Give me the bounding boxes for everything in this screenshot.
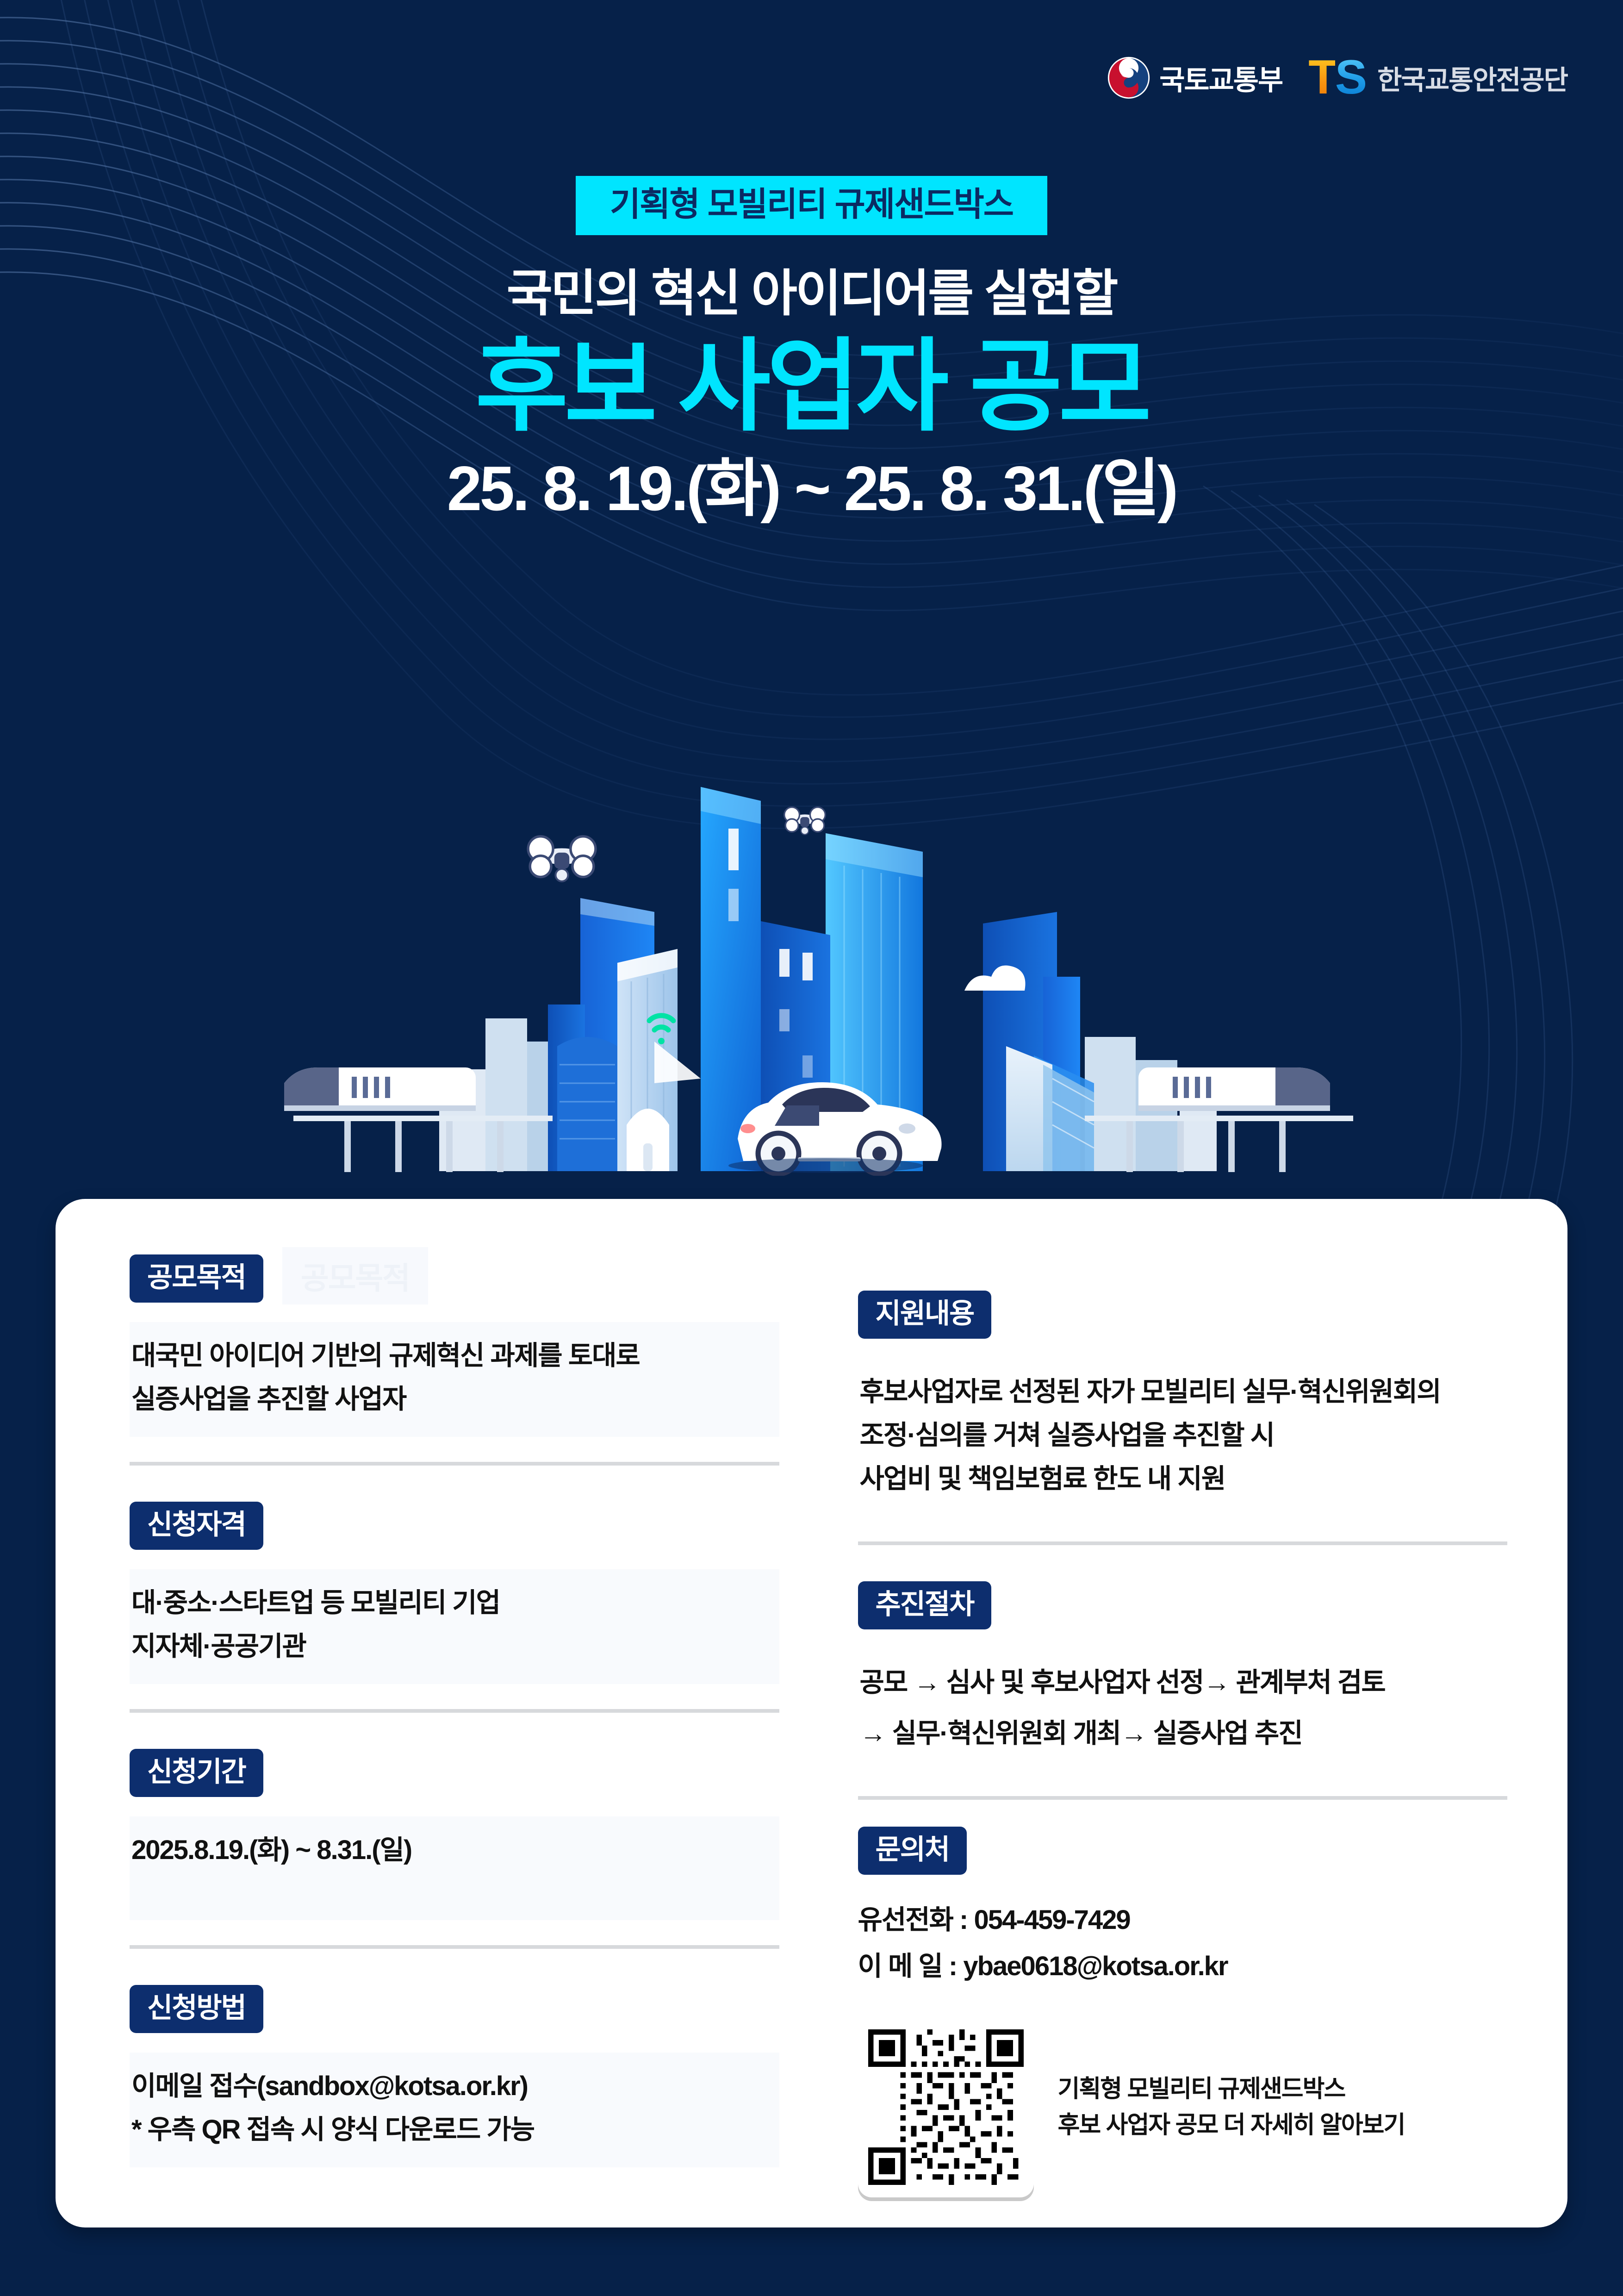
contact-phone-row: 유선전화 : 054-459-7429: [858, 1897, 1508, 1943]
agency-logo-label: 한국교통안전공단: [1377, 58, 1567, 97]
qr-caption-line: 기획형 모빌리티 규제샌드박스: [1058, 2071, 1405, 2107]
hero-subtitle: 국민의 혁신 아이디어를 실현할: [0, 265, 1623, 322]
train-icon-left: [284, 1067, 476, 1111]
ghost-watermark-purpose: 공모목적: [282, 1247, 428, 1304]
rounded-tower: [557, 1037, 617, 1171]
smart-city-illustration: [0, 759, 1623, 1176]
left-column: 공모목적 공모목적 대국민 아이디어 기반의 규제혁신 과제를 토대로 실증사업…: [130, 1254, 779, 2227]
program-badge: 기획형 모빌리티 규제샌드박스: [576, 176, 1047, 235]
section-divider: [858, 1796, 1508, 1800]
body-line: 공모 → 심사 및 후보사업자 선정→ 관계부처 검토: [860, 1661, 1494, 1704]
section-body-purpose: 대국민 아이디어 기반의 규제혁신 과제를 토대로 실증사업을 추진할 사업자: [130, 1322, 779, 1437]
body-line: 후보사업자로 선정된 자가 모빌리티 실무·혁신위원회의: [860, 1370, 1494, 1414]
section-label-eligibility: 신청자격: [130, 1502, 263, 1550]
qr-caption-line: 후보 사업자 공모 더 자세히 알아보기: [1058, 2107, 1405, 2143]
section-divider: [130, 1462, 779, 1466]
contact-phone-label: 유선전화 :: [858, 1905, 974, 1935]
contact-email-value[interactable]: ybae0618@kotsa.or.kr: [963, 1951, 1227, 1981]
section-support: 지원내용 후보사업자로 선정된 자가 모빌리티 실무·혁신위원회의 조정·심의를…: [858, 1291, 1508, 1545]
section-body-period: 2025.8.19.(화) ~ 8.31.(일): [130, 1816, 779, 1920]
section-eligibility: 신청자격 대·중소·스타트업 등 모빌리티 기업 지자체·공공기관: [130, 1502, 779, 1713]
section-body-apply-method: 이메일 접수(sandbox@kotsa.or.kr) * 우측 QR 접속 시…: [130, 2053, 779, 2167]
section-label-contact: 문의처: [858, 1827, 967, 1875]
ts-letter-s: S: [1335, 58, 1365, 97]
qr-row: 기획형 모빌리티 규제샌드박스 후보 사업자 공모 더 자세히 알아보기: [858, 2017, 1508, 2197]
ministry-logo: 국토교통부: [1107, 56, 1282, 100]
info-card: 공모목적 공모목적 대국민 아이디어 기반의 규제혁신 과제를 토대로 실증사업…: [56, 1199, 1567, 2227]
section-contact: 문의처 유선전화 : 054-459-7429 이 메 일 : ybae0618…: [858, 1827, 1508, 2198]
train-icon-right: [1138, 1067, 1330, 1111]
taegeuk-swirl-icon: [1107, 56, 1151, 100]
body-line: 이메일 접수(sandbox@kotsa.or.kr): [131, 2065, 765, 2108]
body-line: * 우측 QR 접속 시 양식 다운로드 가능: [131, 2108, 765, 2152]
section-label-purpose: 공모목적: [130, 1254, 263, 1303]
section-period: 신청기간 2025.8.19.(화) ~ 8.31.(일): [130, 1749, 779, 1949]
body-line: 사업비 및 책임보험료 한도 내 지원: [860, 1457, 1494, 1501]
dome-building: [627, 1109, 669, 1171]
section-label-support: 지원내용: [858, 1291, 992, 1339]
section-body-eligibility: 대·중소·스타트업 등 모빌리티 기업 지자체·공공기관: [130, 1569, 779, 1684]
section-label-process: 추진절차: [858, 1581, 992, 1629]
qr-caption: 기획형 모빌리티 규제샌드박스 후보 사업자 공모 더 자세히 알아보기: [1058, 2071, 1405, 2143]
body-line: 조정·심의를 거쳐 실증사업을 추진할 시: [860, 1414, 1494, 1457]
right-light-tower: [1006, 1046, 1094, 1171]
section-label-apply-method: 신청방법: [130, 1985, 263, 2033]
section-process: 추진절차 공모 → 심사 및 후보사업자 선정→ 관계부처 검토 → 실무·혁신…: [858, 1581, 1508, 1800]
section-divider: [858, 1541, 1508, 1545]
section-label-period: 신청기간: [130, 1749, 263, 1797]
body-line: → 실무·혁신위원회 개최→ 실증사업 추진: [860, 1712, 1494, 1755]
contact-details: 유선전화 : 054-459-7429 이 메 일 : ybae0618@kot…: [858, 1897, 1508, 1990]
contact-phone-value[interactable]: 054-459-7429: [974, 1905, 1130, 1935]
car-shadow: [728, 1158, 923, 1173]
section-divider: [130, 1709, 779, 1713]
drone-icon-left: [528, 836, 596, 881]
contact-email-row: 이 메 일 : ybae0618@kotsa.or.kr: [858, 1943, 1508, 1990]
page-title: 후보 사업자 공모: [0, 334, 1623, 440]
ts-mark-icon: T S: [1308, 58, 1365, 97]
section-body-support: 후보사업자로 선정된 자가 모빌리티 실무·혁신위원회의 조정·심의를 거쳐 실…: [858, 1358, 1508, 1516]
section-body-process: 공모 → 심사 및 후보사업자 선정→ 관계부처 검토 → 실무·혁신위원회 개…: [858, 1649, 1508, 1771]
contact-email-label: 이 메 일 :: [858, 1951, 964, 1981]
ts-letter-t: T: [1308, 58, 1335, 97]
hero-section: 기획형 모빌리티 규제샌드박스 국민의 혁신 아이디어를 실현할 후보 사업자 …: [0, 176, 1623, 524]
drone-icon-right: [784, 807, 825, 835]
section-divider: [130, 1945, 779, 1949]
body-line: 2025.8.19.(화) ~ 8.31.(일): [131, 1828, 765, 1872]
section-apply-method: 신청방법 이메일 접수(sandbox@kotsa.or.kr) * 우측 QR…: [130, 1985, 779, 2167]
section-purpose: 공모목적 공모목적 대국민 아이디어 기반의 규제혁신 과제를 토대로 실증사업…: [130, 1254, 779, 1466]
body-line: 대·중소·스타트업 등 모빌리티 기업: [131, 1581, 765, 1625]
body-line: 대국민 아이디어 기반의 규제혁신 과제를 토대로: [131, 1334, 765, 1378]
ministry-logo-label: 국토교통부: [1159, 58, 1282, 98]
body-line: 실증사업을 추진할 사업자: [131, 1378, 765, 1421]
agency-logo: T S 한국교통안전공단: [1308, 58, 1567, 97]
qr-code[interactable]: [858, 2017, 1034, 2197]
body-line: 지자체·공공기관: [131, 1625, 765, 1668]
right-column: 지원내용 후보사업자로 선정된 자가 모빌리티 실무·혁신위원회의 조정·심의를…: [821, 1254, 1508, 2227]
header-logos: 국토교통부 T S 한국교통안전공단: [1107, 56, 1567, 100]
hero-date-range: 25. 8. 19.(화) ~ 25. 8. 31.(일): [0, 454, 1623, 524]
